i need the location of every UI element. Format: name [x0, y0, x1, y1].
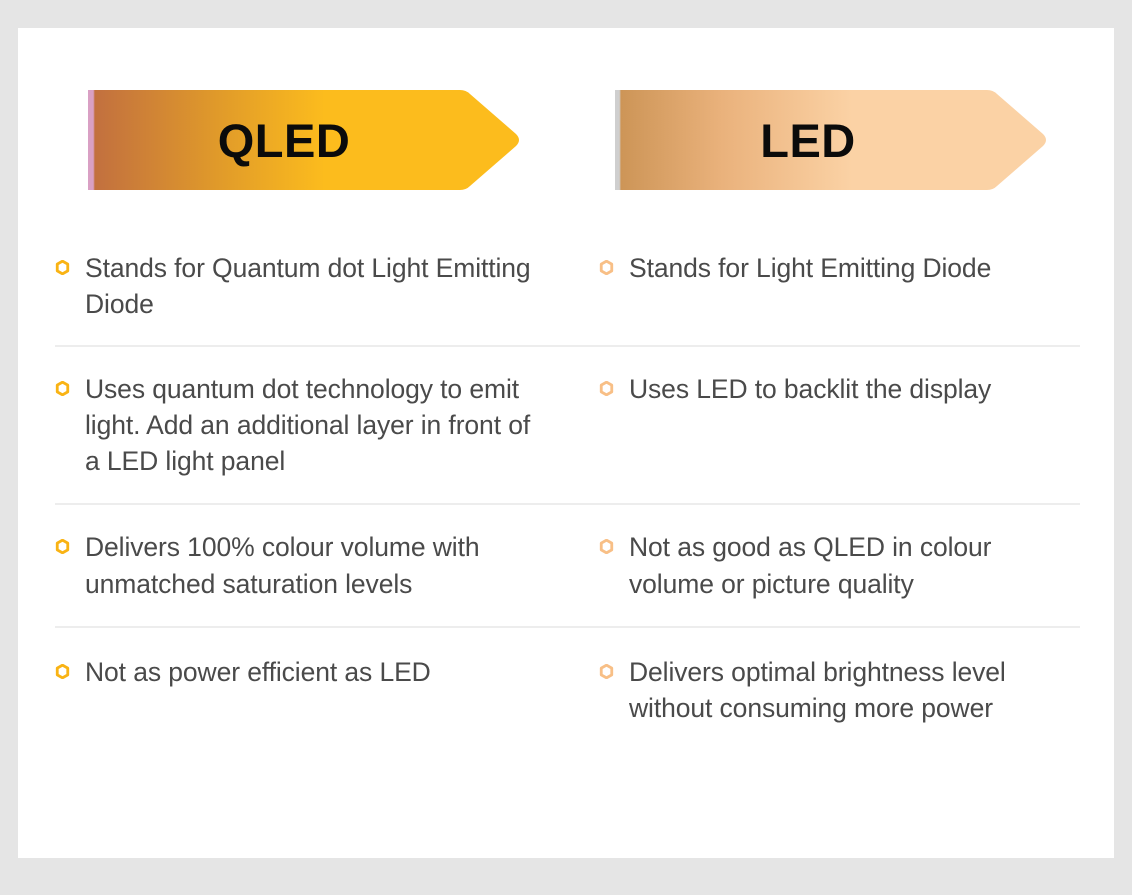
cell-text: Delivers optimal brightness level withou…	[629, 654, 1070, 727]
hexagon-bullet-icon	[55, 664, 70, 679]
qled-cell: Uses quantum dot technology to emit ligh…	[55, 347, 582, 504]
led-title: LED	[615, 90, 1047, 190]
hexagon-bullet-icon	[599, 539, 614, 554]
cell-text: Uses quantum dot technology to emit ligh…	[85, 371, 548, 480]
cell-text: Stands for Quantum dot Light Emitting Di…	[85, 250, 548, 323]
comparison-grid: Stands for Quantum dot Light Emitting Di…	[55, 224, 1080, 753]
table-row: Stands for Quantum dot Light Emitting Di…	[55, 224, 1080, 347]
led-cell: Delivers optimal brightness level withou…	[582, 628, 1080, 753]
hexagon-bullet-icon	[599, 381, 614, 396]
qled-cell: Stands for Quantum dot Light Emitting Di…	[55, 224, 582, 345]
table-row: Not as power efficient as LED Delivers o…	[55, 628, 1080, 753]
table-row: Uses quantum dot technology to emit ligh…	[55, 347, 1080, 506]
hexagon-bullet-icon	[55, 539, 70, 554]
qled-cell: Delivers 100% colour volume with unmatch…	[55, 505, 582, 626]
hexagon-bullet-icon	[55, 381, 70, 396]
cell-text: Stands for Light Emitting Diode	[629, 250, 991, 286]
header-banners: QLED LED	[18, 28, 1114, 208]
hexagon-bullet-icon	[599, 260, 614, 275]
led-header-banner: LED	[615, 90, 1047, 190]
qled-cell: Not as power efficient as LED	[55, 628, 582, 753]
hexagon-bullet-icon	[55, 260, 70, 275]
qled-header-banner: QLED	[88, 90, 520, 190]
led-cell: Uses LED to backlit the display	[582, 347, 1080, 504]
cell-text: Not as power efficient as LED	[85, 654, 431, 690]
cell-text: Not as good as QLED in colour volume or …	[629, 529, 1070, 602]
cell-text: Uses LED to backlit the display	[629, 371, 991, 407]
qled-title: QLED	[88, 90, 520, 190]
led-cell: Stands for Light Emitting Diode	[582, 224, 1080, 345]
hexagon-bullet-icon	[599, 664, 614, 679]
comparison-card: QLED LED	[18, 28, 1114, 858]
led-cell: Not as good as QLED in colour volume or …	[582, 505, 1080, 626]
table-row: Delivers 100% colour volume with unmatch…	[55, 505, 1080, 628]
cell-text: Delivers 100% colour volume with unmatch…	[85, 529, 548, 602]
